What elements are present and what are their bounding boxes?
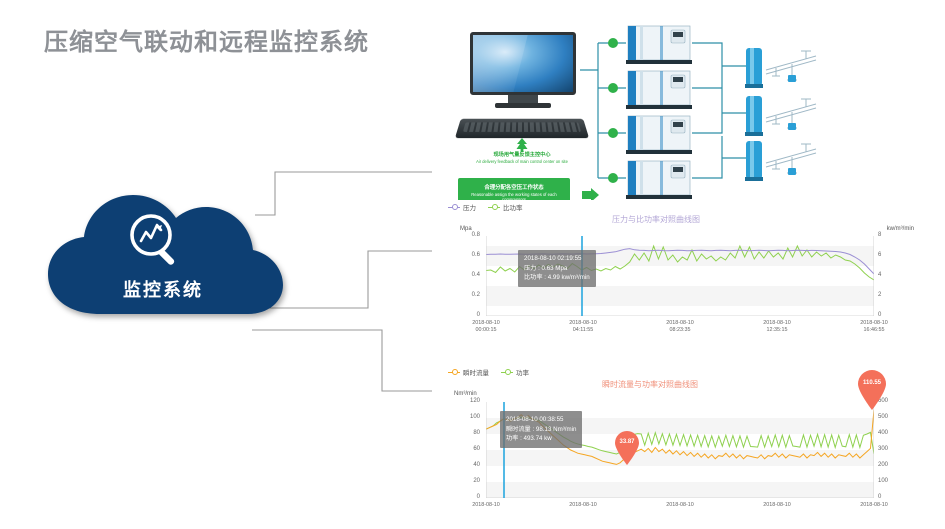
x-tick: 2018-08-10 [656,502,704,509]
x-tick: 2018-08-10 [753,502,801,509]
x-tick: 2018-08-10 [559,502,607,509]
chart2-legend: 瞬时流量 功率 [448,367,529,377]
y-tick: 0 [878,494,881,500]
y-tick: 100 [878,478,888,484]
y-tick: 200 [878,462,888,468]
slide-canvas: 压缩空气联动和远程监控系统 监控系统 [0,0,945,529]
y-tick: 40 [452,462,480,468]
tooltip-line-pressure: 压力 : 0.63 Mpa [524,264,590,274]
legend-item-power[interactable]: 功率 [501,367,529,377]
legend-label-power: 功率 [516,367,529,377]
y-tick: 0.2 [452,292,480,298]
x-tick: 2018-08-1008:23:35 [656,320,704,335]
x-tick: 2018-08-1000:00:15 [462,320,510,335]
y-tick: 400 [878,430,888,436]
legend-marker-specific-power [488,204,500,210]
air-tank-group-1 [745,48,816,88]
chart2-max-marker[interactable]: 110.55 [856,370,888,415]
legend-label-specific-power: 比功率 [503,202,523,212]
chart1-tooltip: 2018-08-10 02:19:55 压力 : 0.63 Mpa 比功率 : … [518,250,596,287]
monitoring-cloud[interactable]: 监控系统 [38,186,288,326]
flow-power-chart-panel: 瞬时流量 功率 瞬时流量与功率对照曲线图 Nm³/min 12010080604… [432,365,920,529]
legend-marker-power [501,369,513,375]
y-tick: 100 [452,414,480,420]
pin-shape-min-icon [613,431,641,465]
chart2-title: 瞬时流量与功率对照曲线图 [602,379,698,390]
compressor-network [430,18,930,200]
status-node-4 [608,173,618,183]
legend-label-pressure: 压力 [463,202,476,212]
pressure-chart-panel: 压力 比功率 压力与比功率对照曲线图 Mpa kw/m³/min 0.80.60… [432,200,920,335]
y-tick: 120 [452,398,480,404]
y-tick: 0 [452,312,480,318]
y-tick: 0 [452,494,480,500]
legend-label-flow: 瞬时流量 [463,367,489,377]
x-tick: 2018-08-1004:11:55 [559,320,607,335]
chart2-tooltip: 2018-08-10 00:38:55 瞬时流量 : 98.13 Nm³/min… [500,411,582,448]
x-tick: 2018-08-10 [462,502,510,509]
air-tank-group-3 [745,141,816,181]
air-tank-group-2 [745,96,816,136]
x-tick: 2018-08-1012:35:15 [753,320,801,335]
y-tick: 80 [452,430,480,436]
status-node-3 [608,128,618,138]
x-tick: 2018-08-1016:46:55 [850,320,898,335]
status-node-1 [608,38,618,48]
status-node-2 [608,83,618,93]
y-tick: 6 [878,252,881,258]
legend-item-pressure[interactable]: 压力 [448,202,476,212]
compressor-unit-1 [626,26,692,64]
y-tick: 60 [452,446,480,452]
y-tick: 0 [878,312,881,318]
tooltip-timestamp: 2018-08-10 00:38:55 [506,415,576,425]
y-tick: 0.4 [452,272,480,278]
page-title: 压缩空气联动和远程监控系统 [44,22,369,57]
chart1-y2-unit: kw/m³/min [887,226,914,232]
pin-shape-max-icon [856,370,888,410]
system-architecture-diagram: 现场用气量反馈主控中心 Air delivery feedback of mai… [430,18,930,200]
tooltip-line-flow: 瞬时流量 : 98.13 Nm³/min [506,425,576,435]
y-tick: 20 [452,478,480,484]
connector-line-3 [252,330,432,391]
legend-marker-pressure [448,204,460,210]
tooltip-line-specific-power: 比功率 : 4.99 kw/m³/min [524,273,590,283]
y-tick: 0.6 [452,252,480,258]
compressor-unit-2 [626,71,692,109]
connector-line-2 [268,251,432,308]
magnifier-chart-icon [126,212,188,270]
compressor-unit-4 [626,161,692,199]
legend-item-specific-power[interactable]: 比功率 [488,202,523,212]
chart2-y-unit: Nm³/min [454,391,477,397]
y-tick: 300 [878,446,888,452]
tooltip-timestamp: 2018-08-10 02:19:55 [524,254,590,264]
y-tick: 8 [878,232,881,238]
chart1-title: 压力与比功率对照曲线图 [612,214,700,225]
pin-label-max: 110.55 [856,380,888,386]
chart2-min-marker[interactable]: 33.87 [613,431,641,470]
cloud-label: 监控系统 [38,276,288,302]
pin-label-min: 33.87 [613,439,641,445]
y-tick: 4 [878,272,881,278]
compressor-unit-3 [626,116,692,154]
x-tick: 2018-08-10 [850,502,898,509]
legend-item-flow[interactable]: 瞬时流量 [448,367,489,377]
tooltip-line-power: 功率 : 493.74 kw [506,434,576,444]
y-tick: 2 [878,292,881,298]
y-tick: 0.8 [452,232,480,238]
legend-marker-flow [448,369,460,375]
chart1-legend: 压力 比功率 [448,202,523,212]
